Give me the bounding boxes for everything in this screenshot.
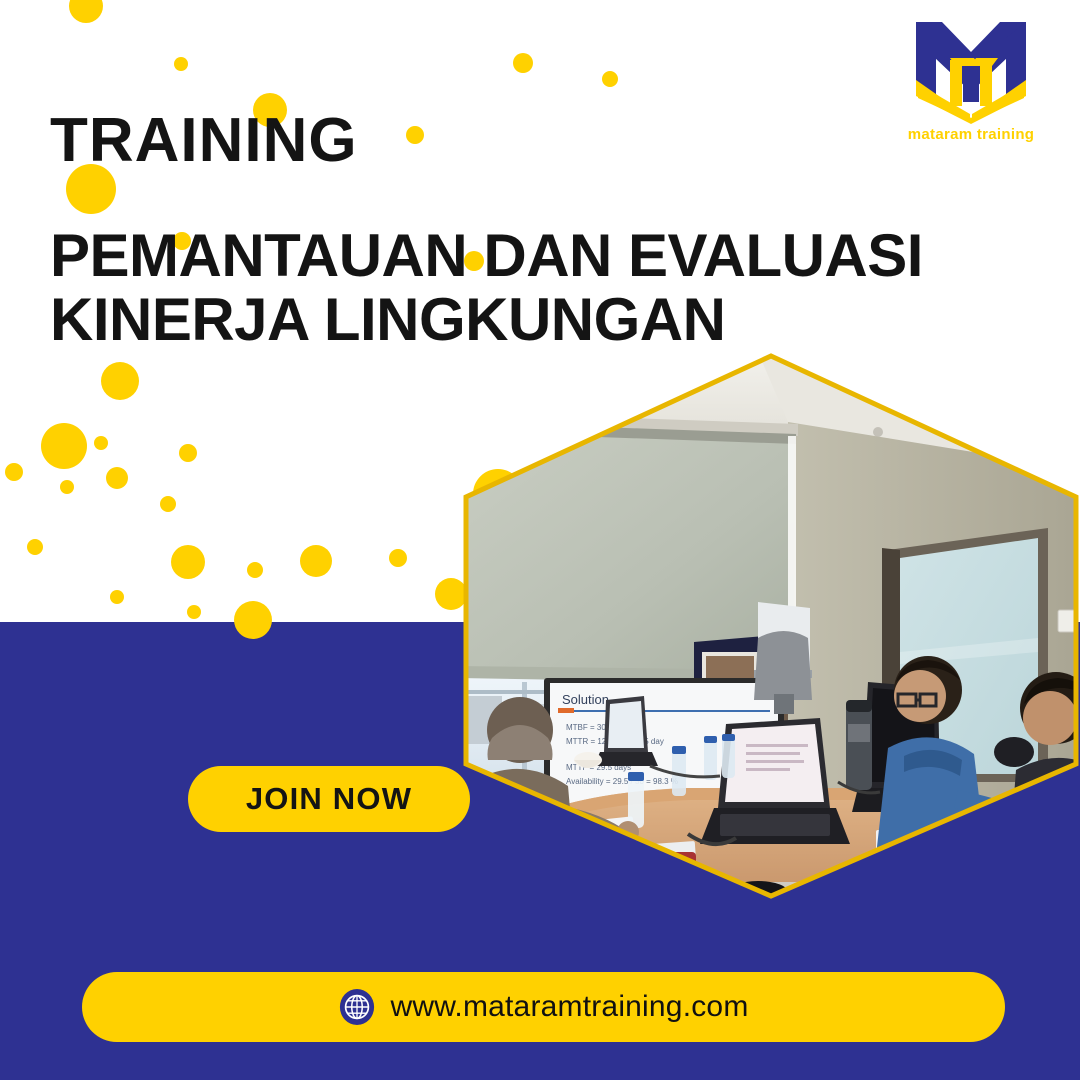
decor-dot — [171, 545, 205, 579]
decor-dot — [110, 590, 124, 604]
svg-text:Solution: Solution — [562, 692, 609, 707]
svg-text:Availability = 29.5 / 30 = 98.: Availability = 29.5 / 30 = 98.3 % — [566, 777, 678, 786]
training-photo-hexagon: Solution MTBF = 30 days MTTR = 12 hours … — [458, 352, 1080, 900]
decor-dot — [160, 496, 176, 512]
decor-dot — [300, 545, 332, 577]
decor-dot — [106, 467, 128, 489]
logo-wordmark: mataram training — [896, 126, 1046, 143]
decor-dot — [247, 562, 263, 578]
main-title: PEMANTAUAN DAN EVALUASI KINERJA LINGKUNG… — [50, 224, 1040, 351]
decor-dot — [5, 463, 23, 481]
decor-dot — [69, 0, 103, 23]
main-title-line-1: PEMANTAUAN DAN EVALUASI — [50, 224, 1040, 288]
decor-dot — [60, 480, 74, 494]
eyebrow-title: TRAINING — [50, 110, 1040, 172]
website-url-bar[interactable]: www.mataramtraining.com — [82, 972, 1005, 1042]
brand-logo: mataram training — [896, 14, 1046, 143]
decor-dot — [602, 71, 618, 87]
headline-block: TRAINING PEMANTAUAN DAN EVALUASI KINERJA… — [50, 110, 1040, 351]
decor-dot — [389, 549, 407, 567]
globe-icon — [338, 988, 376, 1026]
decor-dot — [41, 423, 87, 469]
decor-dot — [94, 436, 108, 450]
main-title-line-2: KINERJA LINGKUNGAN — [50, 288, 1040, 352]
website-url-text: www.mataramtraining.com — [390, 990, 748, 1024]
logo-mark-icon — [906, 14, 1036, 124]
join-now-button[interactable]: JOIN NOW — [188, 766, 470, 832]
decor-dot — [513, 53, 533, 73]
decor-dot — [27, 539, 43, 555]
decor-dot — [101, 362, 139, 400]
decor-dot — [174, 57, 188, 71]
decor-dot — [179, 444, 197, 462]
hexagon-photo-svg: Solution MTBF = 30 days MTTR = 12 hours … — [458, 352, 1080, 900]
poster-canvas: mataram training TRAINING PEMANTAUAN DAN… — [0, 0, 1080, 1080]
decor-dot — [187, 605, 201, 619]
